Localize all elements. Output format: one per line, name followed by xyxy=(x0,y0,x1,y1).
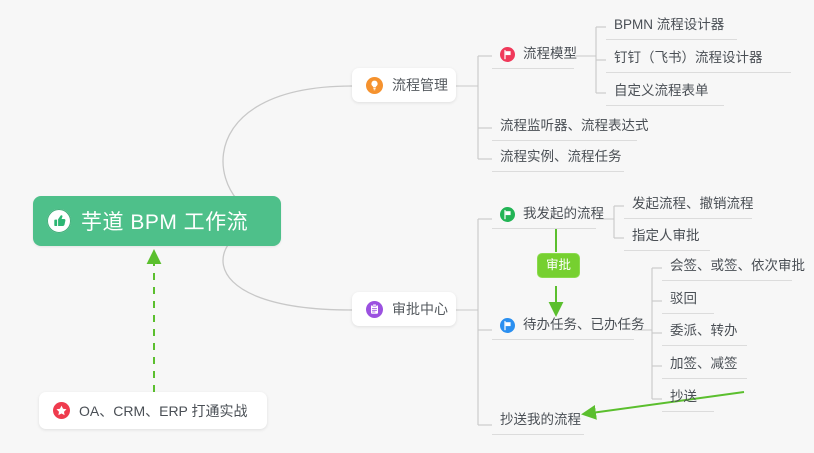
badge-approve[interactable]: 审批 xyxy=(537,253,580,278)
clipboard-icon xyxy=(366,301,383,318)
branch-node-process-management[interactable]: 流程管理 xyxy=(352,68,456,102)
note-integration[interactable]: OA、CRM、ERP 打通实战 xyxy=(39,392,267,429)
node-label-add-remove-sign: 加签、减签 xyxy=(670,355,738,373)
node-bpmn-designer[interactable]: BPMN 流程设计器 xyxy=(606,16,737,40)
lightbulb-icon xyxy=(366,77,383,94)
node-process-instance[interactable]: 流程实例、流程任务 xyxy=(492,148,624,172)
branch-label-approval-center: 审批中心 xyxy=(392,299,448,319)
branch-label-process-management: 流程管理 xyxy=(392,75,448,95)
node-assignee-approval[interactable]: 指定人审批 xyxy=(624,227,710,251)
node-process-model[interactable]: 流程模型 xyxy=(492,45,574,69)
node-label-process-instance: 流程实例、流程任务 xyxy=(500,148,622,166)
node-start-cancel-process[interactable]: 发起流程、撤销流程 xyxy=(624,195,752,219)
root-node[interactable]: 芋道 BPM 工作流 xyxy=(33,196,281,246)
node-dingtalk-designer[interactable]: 钉钉（飞书）流程设计器 xyxy=(606,49,791,73)
node-label-countersign: 会签、或签、依次审批 xyxy=(670,257,805,275)
node-label-bpmn-designer: BPMN 流程设计器 xyxy=(614,16,724,34)
node-process-listener[interactable]: 流程监听器、流程表达式 xyxy=(492,117,637,141)
node-cc[interactable]: 抄送 xyxy=(662,388,714,412)
node-label-process-listener: 流程监听器、流程表达式 xyxy=(500,117,649,135)
mindmap-canvas: 芋道 BPM 工作流 流程管理 流程模型 BPMN 流程设计器 钉钉（飞书）流程 xyxy=(0,0,814,453)
star-icon xyxy=(53,402,70,419)
node-label-custom-form: 自定义流程表单 xyxy=(614,82,709,100)
flag-icon xyxy=(500,47,515,62)
node-label-assignee-approval: 指定人审批 xyxy=(632,227,700,245)
node-label-cc: 抄送 xyxy=(670,388,697,406)
node-label-cc-to-me: 抄送我的流程 xyxy=(500,411,581,429)
thumbs-up-icon xyxy=(47,209,71,233)
node-my-started-process[interactable]: 我发起的流程 xyxy=(492,205,596,229)
branch-node-approval-center[interactable]: 审批中心 xyxy=(352,292,456,326)
node-label-my-started-process: 我发起的流程 xyxy=(523,205,604,223)
node-label-process-model: 流程模型 xyxy=(523,45,577,63)
note-integration-label: OA、CRM、ERP 打通实战 xyxy=(79,401,248,421)
badge-approve-label: 审批 xyxy=(546,258,571,272)
node-custom-form[interactable]: 自定义流程表单 xyxy=(606,82,724,106)
node-add-remove-sign[interactable]: 加签、减签 xyxy=(662,355,747,379)
node-delegate-transfer[interactable]: 委派、转办 xyxy=(662,322,747,346)
root-label: 芋道 BPM 工作流 xyxy=(81,206,248,236)
flag-icon xyxy=(500,318,515,333)
node-label-reject: 驳回 xyxy=(670,290,697,308)
node-todo-done-tasks[interactable]: 待办任务、已办任务 xyxy=(492,316,634,340)
node-cc-to-me[interactable]: 抄送我的流程 xyxy=(492,411,584,435)
node-label-start-cancel-process: 发起流程、撤销流程 xyxy=(632,195,754,213)
node-label-delegate-transfer: 委派、转办 xyxy=(670,322,738,340)
flag-icon xyxy=(500,207,515,222)
node-reject[interactable]: 驳回 xyxy=(662,290,714,314)
node-label-dingtalk-designer: 钉钉（飞书）流程设计器 xyxy=(614,49,763,67)
node-countersign[interactable]: 会签、或签、依次审批 xyxy=(662,257,792,281)
node-label-todo-done-tasks: 待办任务、已办任务 xyxy=(523,316,645,334)
